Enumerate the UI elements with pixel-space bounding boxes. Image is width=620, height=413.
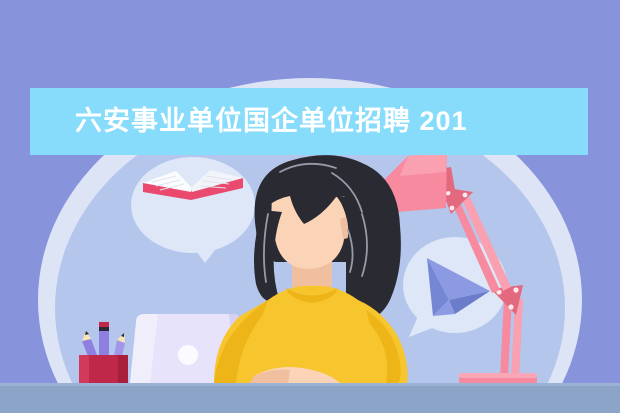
title-banner: 六安事业单位国企单位招聘 201 [30, 88, 588, 155]
laptop-logo [178, 345, 198, 365]
lamp-base-highlight [459, 373, 537, 378]
pencil-eraser [99, 322, 109, 327]
illustration-canvas: 六安事业单位国企单位招聘 201 [0, 0, 620, 413]
desk-edge-highlight [0, 383, 620, 386]
desk-surface [0, 383, 620, 413]
bubble-body [131, 157, 255, 253]
joint-screw [463, 193, 468, 198]
joint-screw [450, 206, 455, 211]
illustration-artwork [0, 0, 620, 413]
joint-screw [513, 287, 518, 292]
joint-screw [508, 304, 513, 309]
page-title: 六安事业单位国企单位招聘 201 [30, 108, 468, 135]
